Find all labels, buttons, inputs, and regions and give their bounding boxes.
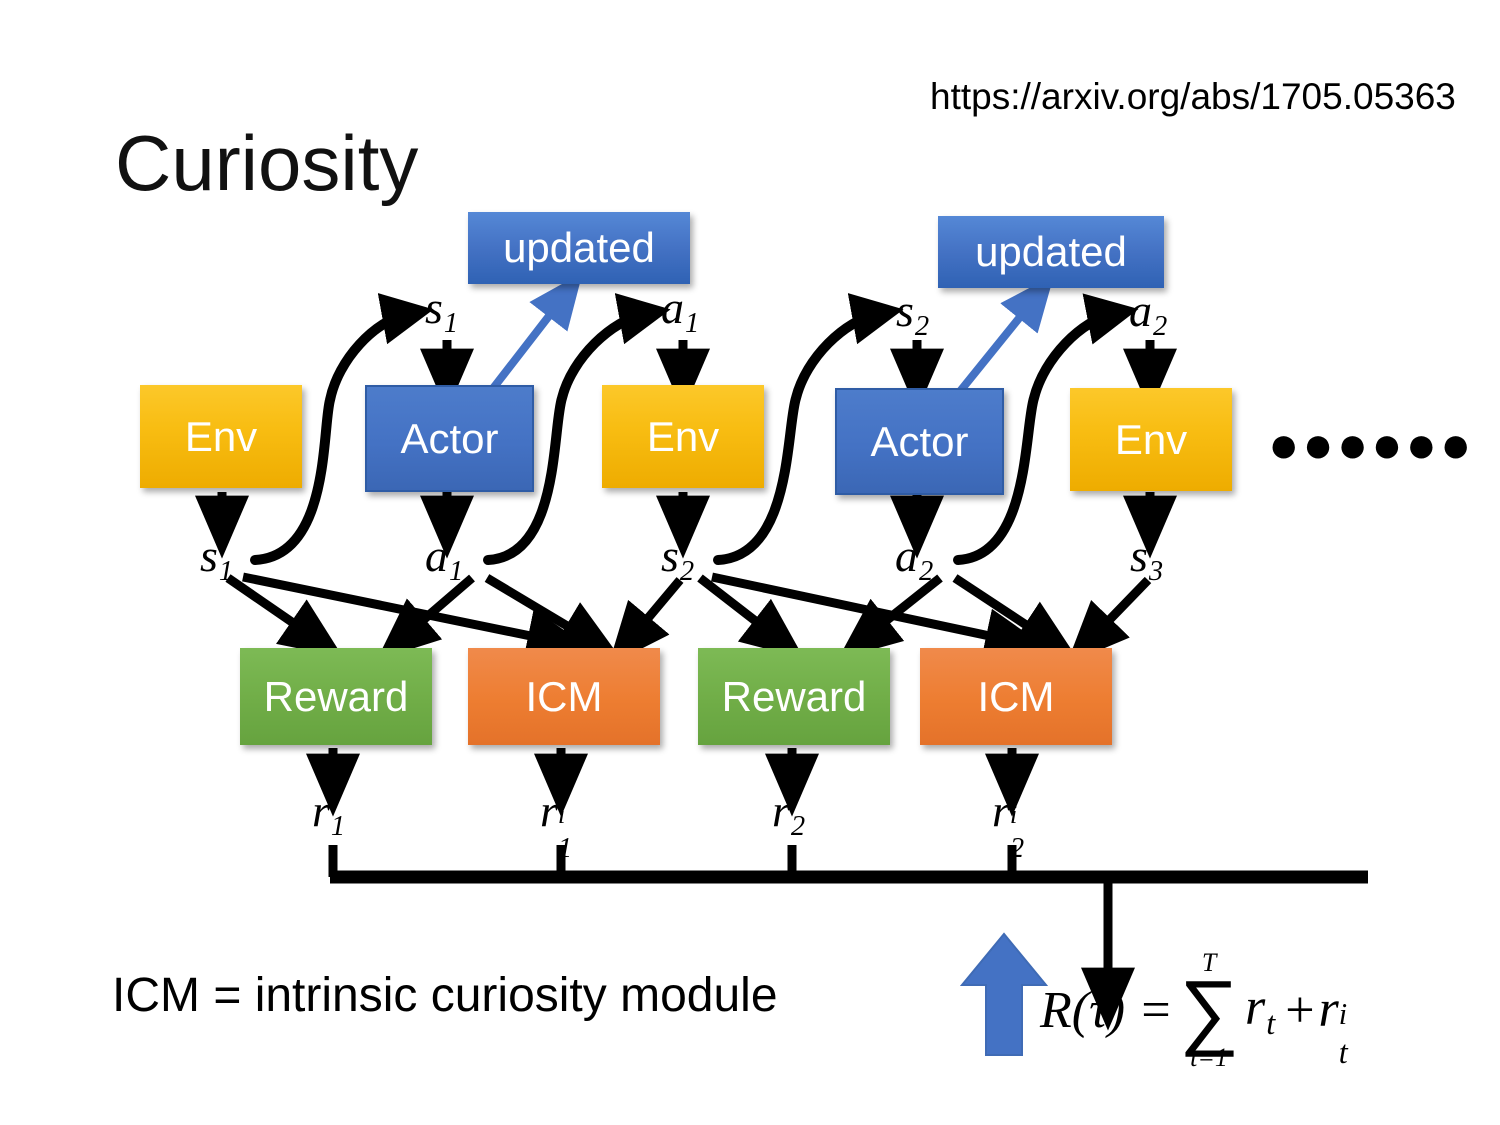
formula-term-1-base: r bbox=[1245, 979, 1265, 1036]
formula-lhs: R(τ) = bbox=[1040, 981, 1173, 1040]
box-env-1[interactable]: Env bbox=[140, 385, 302, 488]
label-state-1-top: s1 bbox=[425, 285, 458, 338]
formula-term-1-sub: t bbox=[1266, 1005, 1275, 1041]
label-reward-ext-1: r1 bbox=[312, 788, 345, 841]
box-reward-1-label: Reward bbox=[264, 676, 409, 718]
arrows-box-to-reward-symbol bbox=[333, 748, 1012, 786]
label-action-2-top: a2 bbox=[1129, 288, 1167, 341]
return-emphasis-arrow bbox=[962, 934, 1046, 1055]
box-icm-2-label: ICM bbox=[978, 676, 1055, 718]
box-actor-1-label: Actor bbox=[400, 418, 498, 460]
label-reward-int-1-sub: 1 bbox=[558, 835, 572, 864]
source-url[interactable]: https://arxiv.org/abs/1705.05363 bbox=[930, 76, 1456, 118]
box-updated-2[interactable]: updated bbox=[938, 216, 1164, 288]
label-reward-int-2-sup: i bbox=[1010, 801, 1017, 828]
label-action-1-top-sub: 1 bbox=[685, 308, 699, 339]
label-state-1-mid-sub: 1 bbox=[219, 556, 233, 587]
label-state-2-top: s2 bbox=[896, 288, 929, 341]
formula-term-2-sub: t bbox=[1339, 1036, 1348, 1068]
label-state-1-mid-base: s bbox=[200, 530, 218, 581]
label-action-2-top-base: a bbox=[1129, 285, 1152, 336]
label-action-1-mid-base: a bbox=[425, 530, 448, 581]
box-icm-1-label: ICM bbox=[526, 676, 603, 718]
box-env-3[interactable]: Env bbox=[1070, 388, 1232, 491]
box-actor-1[interactable]: Actor bbox=[365, 385, 534, 492]
label-state-2-top-base: s bbox=[896, 285, 914, 336]
continuation-ellipsis: ●●●●●● bbox=[1268, 415, 1474, 475]
formula-sum-sigma: ∑ bbox=[1179, 976, 1239, 1045]
label-action-1-top-base: a bbox=[661, 282, 684, 333]
label-action-1-mid: a1 bbox=[425, 533, 463, 586]
label-state-2-mid: s2 bbox=[661, 533, 694, 586]
label-action-2-mid-sub: 2 bbox=[919, 556, 933, 587]
return-formula: R(τ) = T ∑ t=1 rt + rit bbox=[1040, 950, 1362, 1071]
arrows-to-reward-icm bbox=[228, 577, 1148, 642]
label-state-1-mid: s1 bbox=[200, 533, 233, 586]
label-reward-ext-1-sub: 1 bbox=[331, 811, 345, 842]
box-reward-2[interactable]: Reward bbox=[698, 648, 890, 745]
label-state-1-top-base: s bbox=[425, 282, 443, 333]
box-icm-2[interactable]: ICM bbox=[920, 648, 1112, 745]
formula-plus: + bbox=[1285, 981, 1314, 1040]
box-env-3-label: Env bbox=[1115, 419, 1187, 461]
formula-term-2-sup: i bbox=[1339, 999, 1347, 1029]
label-action-2-mid-base: a bbox=[895, 530, 918, 581]
box-env-1-label: Env bbox=[185, 416, 257, 458]
box-env-2[interactable]: Env bbox=[602, 385, 764, 488]
label-state-3-mid: s3 bbox=[1130, 533, 1163, 586]
box-env-2-label: Env bbox=[647, 416, 719, 458]
label-state-3-mid-base: s bbox=[1130, 530, 1148, 581]
formula-term-1: rt bbox=[1245, 982, 1275, 1039]
label-state-3-mid-sub: 3 bbox=[1149, 556, 1163, 587]
label-reward-ext-2-sub: 2 bbox=[791, 811, 805, 842]
box-updated-2-label: updated bbox=[975, 231, 1127, 273]
label-reward-ext-1-base: r bbox=[312, 785, 330, 836]
label-state-2-mid-sub: 2 bbox=[680, 556, 694, 587]
label-state-2-mid-base: s bbox=[661, 530, 679, 581]
label-reward-ext-2: r2 bbox=[772, 788, 805, 841]
formula-term-2-base: r bbox=[1319, 981, 1339, 1038]
label-action-2-top-sub: 2 bbox=[1153, 311, 1167, 342]
label-action-2-mid: a2 bbox=[895, 533, 933, 586]
label-reward-int-1-sup: i bbox=[558, 801, 565, 828]
box-reward-1[interactable]: Reward bbox=[240, 648, 432, 745]
label-reward-int-1-base: r bbox=[540, 785, 558, 836]
box-actor-2[interactable]: Actor bbox=[835, 388, 1004, 495]
formula-sum-lower: t=1 bbox=[1190, 1045, 1228, 1071]
label-action-1-mid-sub: 1 bbox=[449, 556, 463, 587]
box-reward-2-label: Reward bbox=[722, 676, 867, 718]
label-reward-int-2-base: r bbox=[992, 785, 1010, 836]
formula-term-2: rit bbox=[1319, 984, 1363, 1036]
label-reward-int-2-sub: 2 bbox=[1010, 835, 1024, 864]
label-state-2-top-sub: 2 bbox=[915, 311, 929, 342]
label-reward-ext-2-base: r bbox=[772, 785, 790, 836]
page-title: Curiosity bbox=[115, 118, 418, 209]
label-state-1-top-sub: 1 bbox=[444, 308, 458, 339]
box-updated-1-label: updated bbox=[503, 227, 655, 269]
legend-caption: ICM = intrinsic curiosity module bbox=[112, 968, 778, 1023]
label-action-1-top: a1 bbox=[661, 285, 699, 338]
label-reward-int-2: ri2 bbox=[992, 788, 1031, 834]
slide-canvas: https://arxiv.org/abs/1705.05363 Curiosi… bbox=[0, 0, 1500, 1125]
box-actor-2-label: Actor bbox=[870, 421, 968, 463]
summation-symbol-group: T ∑ t=1 bbox=[1179, 950, 1239, 1071]
box-updated-1[interactable]: updated bbox=[468, 212, 690, 284]
box-icm-1[interactable]: ICM bbox=[468, 648, 660, 745]
label-reward-int-1: ri1 bbox=[540, 788, 579, 834]
